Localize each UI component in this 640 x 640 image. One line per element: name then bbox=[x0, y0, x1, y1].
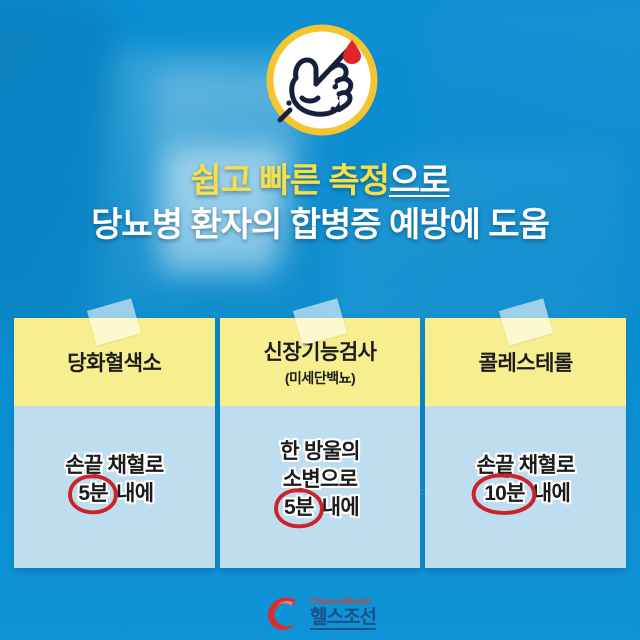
test-card-cholesterol[interactable]: 콜레스테롤 손끝 채혈로 10분 내에 bbox=[425, 318, 626, 568]
circled-value: 5분 bbox=[78, 482, 108, 505]
infographic-canvas: Afinion HbA1c Control Sample Finger 쉽고 빠… bbox=[0, 0, 640, 640]
card-body-line: 소변으로 bbox=[283, 466, 357, 494]
circled-value-group: 5분 bbox=[281, 494, 317, 522]
logo-brand-text: ChosunMedia bbox=[310, 597, 376, 606]
circled-value: 5분 bbox=[284, 496, 314, 519]
card-body-line: 5분 내에 bbox=[281, 494, 359, 522]
logo-text-block: ChosunMedia 헬스조선 bbox=[310, 597, 376, 630]
headline: 쉽고 빠른 측정으로 당뇨병 환자의 합병증 예방에 도움 bbox=[0, 162, 640, 244]
card-body: 손끝 채혈로 10분 내에 bbox=[425, 406, 626, 568]
card-header: 신장기능검사 (미세단백뇨) bbox=[220, 318, 421, 406]
headline-line-2: 당뇨병 환자의 합병증 예방에 도움 bbox=[0, 206, 640, 244]
card-subtitle: (미세단백뇨) bbox=[285, 368, 355, 388]
card-title: 콜레스테롤 bbox=[479, 347, 573, 377]
card-header: 콜레스테롤 bbox=[425, 318, 626, 406]
headline-highlight: 쉽고 빠른 측정 bbox=[190, 162, 389, 200]
card-body-line: 10분 내에 bbox=[481, 480, 570, 508]
card-title: 당화혈색소 bbox=[67, 347, 161, 377]
headline-line-1-suffix: 으로 bbox=[389, 162, 450, 200]
chosun-media-swoosh-icon bbox=[264, 594, 302, 632]
circled-value: 10분 bbox=[484, 482, 525, 505]
card-body: 손끝 채혈로 5분 내에 bbox=[14, 406, 215, 568]
card-body: 한 방울의 소변으로 5분 내에 bbox=[220, 406, 421, 568]
card-body-line-suffix: 내에 bbox=[322, 496, 359, 519]
circled-value-group: 5분 bbox=[75, 480, 111, 508]
card-body-line: 손끝 채혈로 bbox=[477, 452, 575, 480]
finger-blood-drop-icon bbox=[266, 24, 378, 136]
test-card-hba1c[interactable]: 당화혈색소 손끝 채혈로 5분 내에 bbox=[14, 318, 215, 568]
test-card-kidney-function[interactable]: 신장기능검사 (미세단백뇨) 한 방울의 소변으로 5분 내에 bbox=[220, 318, 421, 568]
test-cards-row: 당화혈색소 손끝 채혈로 5분 내에 신장기능검사 bbox=[14, 318, 626, 568]
card-body-line: 손끝 채혈로 bbox=[65, 452, 163, 480]
footer-logo[interactable]: ChosunMedia 헬스조선 bbox=[0, 586, 640, 640]
card-header: 당화혈색소 bbox=[14, 318, 215, 406]
card-body-line: 한 방울의 bbox=[280, 438, 360, 466]
circled-value-group: 10분 bbox=[481, 480, 528, 508]
headline-line-1: 쉽고 빠른 측정으로 bbox=[0, 162, 640, 200]
card-body-line-suffix: 내에 bbox=[533, 482, 570, 505]
card-body-line-suffix: 내에 bbox=[116, 482, 153, 505]
logo-name-text: 헬스조선 bbox=[310, 608, 376, 630]
card-body-line: 5분 내에 bbox=[75, 480, 153, 508]
